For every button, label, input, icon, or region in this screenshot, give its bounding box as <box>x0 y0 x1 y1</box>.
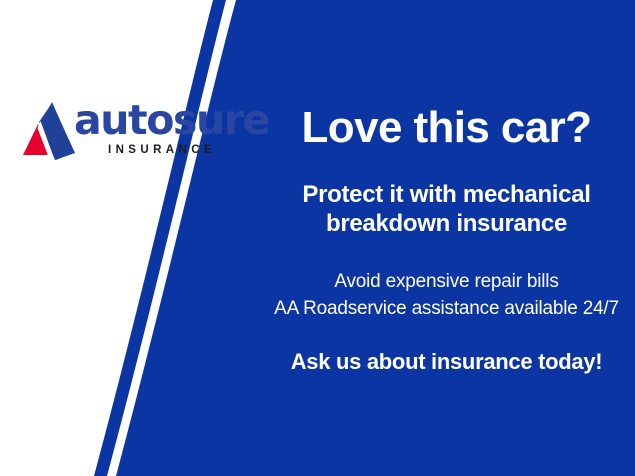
ad-copy-block: Love this car? Protect it with mechanica… <box>258 0 635 476</box>
autosure-a-mark-icon <box>18 102 78 160</box>
wordmark-insurance-label: INSURANCE <box>108 144 216 156</box>
autosure-wordmark: autosure INSURANCE <box>74 100 234 164</box>
subheadline-line-2: breakdown insurance <box>258 209 635 238</box>
subheadline: Protect it with mechanical breakdown ins… <box>258 180 635 238</box>
subheadline-line-1: Protect it with mechanical <box>258 180 635 209</box>
benefit-line-2: AA Roadservice assistance available 24/7 <box>258 295 635 322</box>
autosure-insurance-ad-banner: autosure INSURANCE Love this car? Protec… <box>0 0 635 476</box>
benefit-line-1: Avoid expensive repair bills <box>258 268 635 295</box>
wordmark-autosure: autosure <box>74 98 269 142</box>
headline: Love this car? <box>258 103 635 153</box>
call-to-action-text: Ask us about insurance today! <box>258 348 635 375</box>
benefits-list: Avoid expensive repair bills AA Roadserv… <box>258 268 635 322</box>
autosure-logo: autosure INSURANCE <box>18 100 233 164</box>
